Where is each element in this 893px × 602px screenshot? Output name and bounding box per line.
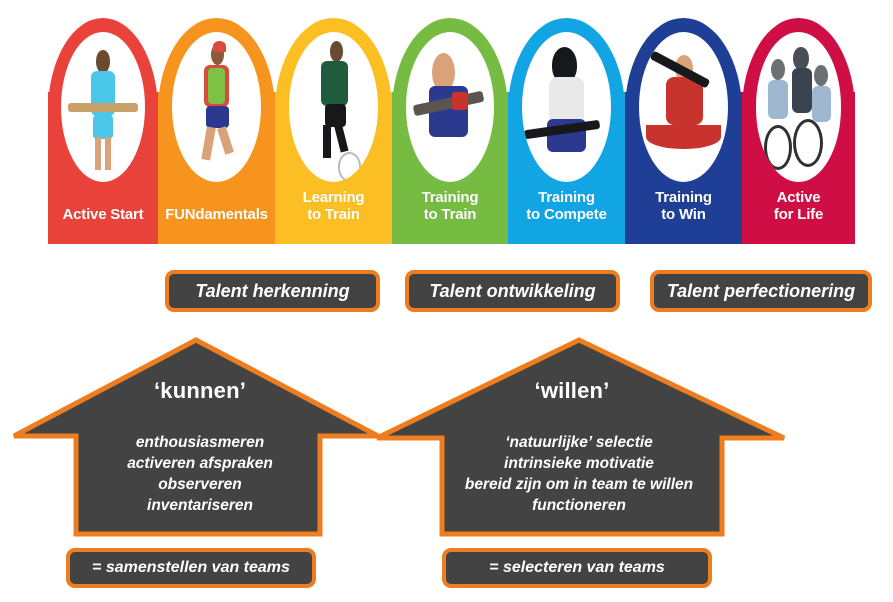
talent-box-2[interactable]: Talent ontwikkeling <box>405 270 620 312</box>
stage-label-line1: Active <box>742 190 855 207</box>
talent-box-label: Talent perfectionering <box>667 281 855 302</box>
figure-boy-playing-soccer <box>289 32 378 182</box>
cap <box>213 41 226 52</box>
stage-label-line2: for Life <box>742 207 855 224</box>
result-box-label: = samenstellen van teams <box>92 559 290 577</box>
scope-mount <box>452 92 468 110</box>
kunnen-arrow-shape <box>10 334 390 540</box>
stage-label: Learningto Train <box>275 190 392 224</box>
stage-column-2[interactable]: FUNdamentals <box>158 18 275 244</box>
talent-box-3[interactable]: Talent perfectionering <box>650 270 872 312</box>
cyclist-head-3 <box>814 65 828 86</box>
stage-label-line2: to Train <box>275 207 392 224</box>
rider-torso-2 <box>792 68 813 113</box>
stage-column-7[interactable]: Activefor Life <box>742 18 855 244</box>
stage-label-line2: to Train <box>392 207 508 224</box>
stage-label: Trainingto Train <box>392 190 508 224</box>
shorts <box>93 115 113 139</box>
figure-family-cycling <box>756 32 842 182</box>
figure-kayak-paddler <box>639 32 728 182</box>
jersey <box>321 61 348 106</box>
bike-wheel-2 <box>793 119 823 167</box>
stage-label-line1: Training <box>625 190 742 207</box>
stage-label-line1: Active Start <box>48 207 158 224</box>
stage-label: FUNdamentals <box>158 207 275 224</box>
stage-label-line1: Learning <box>275 190 392 207</box>
stage-photo-kayak-paddler <box>639 32 728 182</box>
leg-r <box>334 121 349 152</box>
cyclist-head-2 <box>793 47 808 70</box>
willen-arrow: ‘willen’ ‘natuurlijke’ selectieintrinsie… <box>372 334 790 540</box>
stage-label-line1: Training <box>508 190 625 207</box>
willen-arrow-shape <box>372 334 790 540</box>
soccer-ball <box>338 152 362 182</box>
stage-label-line2: to Compete <box>508 207 625 224</box>
stage-label: Trainingto Compete <box>508 190 625 224</box>
figure-para-ice-hockey-player <box>522 32 611 182</box>
stage-column-6[interactable]: Trainingto Win <box>625 18 742 244</box>
result-box-1[interactable]: = samenstellen van teams <box>66 548 316 588</box>
stage-photo-para-ice-hockey-player <box>522 32 611 182</box>
leg-r <box>105 137 111 170</box>
balance-beam <box>68 103 138 112</box>
leg-l <box>201 126 215 160</box>
stage-column-5[interactable]: Trainingto Compete <box>508 18 625 244</box>
rider-torso-1 <box>768 80 789 119</box>
rider-torso-3 <box>812 86 831 122</box>
bib <box>208 68 226 104</box>
stage-label-line1: FUNdamentals <box>158 207 275 224</box>
figure-athlete-shooting-rifle <box>406 32 494 182</box>
leg-l <box>323 125 331 158</box>
stage-label-line1: Training <box>392 190 508 207</box>
stage-photo-athlete-shooting-rifle <box>406 32 494 182</box>
result-box-2[interactable]: = selecteren van teams <box>442 548 712 588</box>
cyclist-head-1 <box>771 59 785 80</box>
shorts <box>206 106 229 129</box>
stage-label: Activefor Life <box>742 190 855 224</box>
stage-photo-boy-playing-soccer <box>289 32 378 182</box>
stage-label-line2: to Win <box>625 207 742 224</box>
result-box-label: = selecteren van teams <box>489 559 665 577</box>
talent-box-label: Talent ontwikkeling <box>429 281 595 302</box>
head <box>96 50 109 73</box>
leg-l <box>95 137 101 170</box>
leg-r <box>217 126 234 154</box>
stage-photo-toddler-on-balance-beam <box>61 32 145 182</box>
ltad-stages-banner: Active StartFUNdamentalsLearningto Train… <box>48 18 855 244</box>
head <box>330 41 343 62</box>
bike-wheel-1 <box>764 125 792 170</box>
kunnen-arrow: ‘kunnen’ enthousiasmerenactiveren afspra… <box>10 334 390 540</box>
stage-column-4[interactable]: Trainingto Train <box>392 18 508 244</box>
stage-photo-family-cycling <box>756 32 842 182</box>
stage-column-1[interactable]: Active Start <box>48 18 158 244</box>
talent-box-1[interactable]: Talent herkenning <box>165 270 380 312</box>
stage-photo-boy-running-with-bib <box>172 32 261 182</box>
figure-toddler-on-balance-beam <box>61 32 145 182</box>
diagram-canvas: Active StartFUNdamentalsLearningto Train… <box>0 0 893 602</box>
talent-box-label: Talent herkenning <box>195 281 349 302</box>
stage-label: Active Start <box>48 207 158 224</box>
stage-column-3[interactable]: Learningto Train <box>275 18 392 244</box>
stage-label: Trainingto Win <box>625 190 742 224</box>
kayak-hull <box>646 125 721 149</box>
figure-boy-running-with-bib <box>172 32 261 182</box>
